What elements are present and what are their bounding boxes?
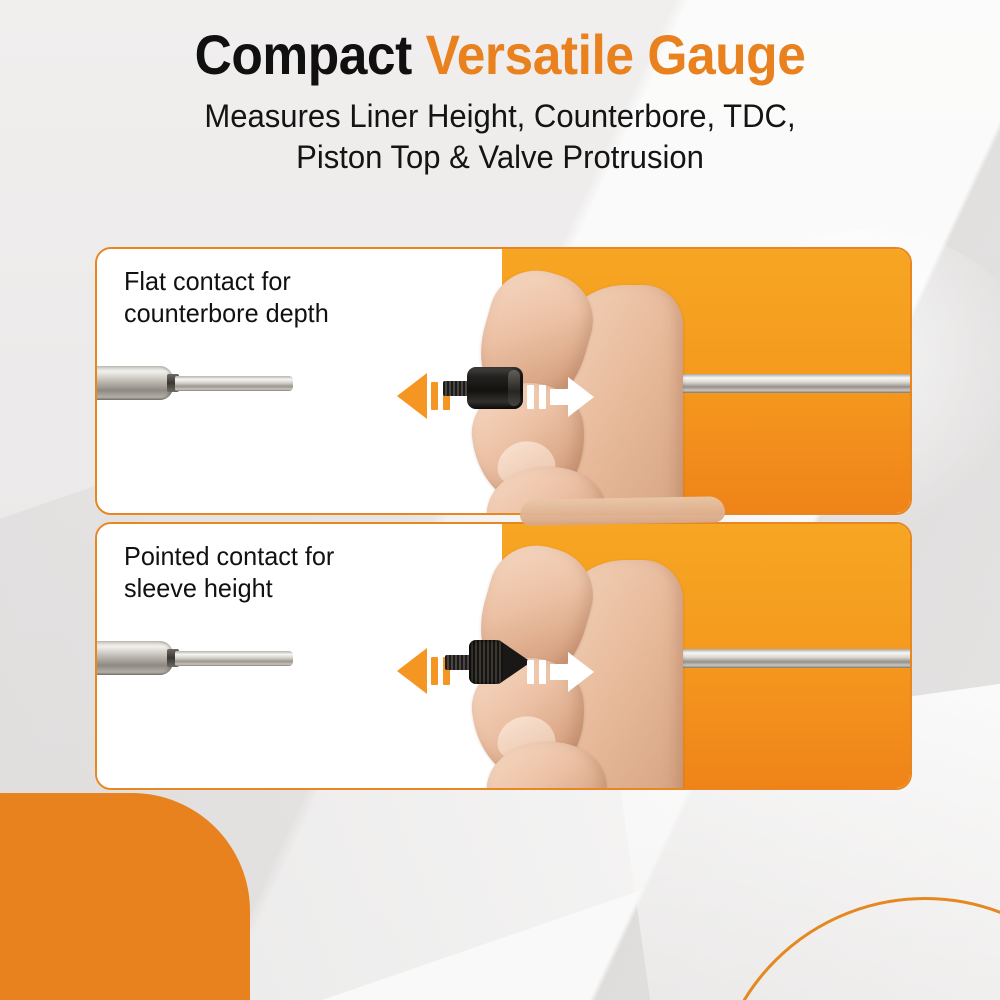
assembled-rod xyxy=(664,374,912,393)
page-subtitle: Measures Liner Height, Counterbore, TDC,… xyxy=(102,96,897,177)
page-title: Compact Versatile Gauge xyxy=(40,0,960,84)
header: Compact Versatile Gauge Measures Liner H… xyxy=(0,0,1000,177)
panel-label-line-1: Flat contact for xyxy=(124,266,454,298)
flat-knob xyxy=(467,367,523,409)
arrow-left-head xyxy=(397,648,427,694)
subtitle-line-1: Measures Liner Height, Counterbore, TDC, xyxy=(102,96,897,136)
arrow-right-head xyxy=(568,652,594,692)
panel-label-line-1: Pointed contact for xyxy=(124,541,454,573)
arrow-right-stem xyxy=(550,664,568,680)
arrow-left-icon xyxy=(397,373,450,419)
arrow-left-head xyxy=(397,373,427,419)
pointed-knob xyxy=(469,640,531,684)
panel-label-line-2: counterbore depth xyxy=(124,298,454,330)
title-black-part: Compact xyxy=(195,23,412,86)
subtitle-line-2: Piston Top & Valve Protrusion xyxy=(102,137,897,177)
orange-rounded-blob xyxy=(0,793,250,1000)
arrow-right-icon xyxy=(527,652,594,692)
tip-thread-stud xyxy=(443,381,469,396)
arrow-right-motion-bars xyxy=(527,385,546,409)
arrow-right-icon xyxy=(527,377,594,417)
gauge-body xyxy=(95,641,173,675)
gauge-shaft-left xyxy=(95,366,291,400)
gauge-rod xyxy=(175,651,293,666)
arrow-right-stem xyxy=(550,389,568,405)
tip-thread-stud xyxy=(445,655,471,670)
finger-overlapping-panels xyxy=(520,496,725,526)
gauge-shaft-left xyxy=(95,641,291,675)
gauge-rod xyxy=(175,376,293,391)
arrow-right-head xyxy=(568,377,594,417)
panel-pointed-contact: Pointed contact for sleeve height xyxy=(95,522,912,790)
panel-flat-contact: Flat contact for counterbore depth xyxy=(95,247,912,515)
arrow-right-motion-bars xyxy=(527,660,546,684)
title-orange-part: Versatile Gauge xyxy=(426,23,806,86)
panel-label-flat-contact: Flat contact for counterbore depth xyxy=(124,266,454,329)
gauge-body xyxy=(95,366,173,400)
arrow-left-icon xyxy=(397,648,450,694)
infographic-canvas: Compact Versatile Gauge Measures Liner H… xyxy=(0,0,1000,1000)
panel-label-pointed-contact: Pointed contact for sleeve height xyxy=(124,541,454,604)
panel-label-line-2: sleeve height xyxy=(124,573,454,605)
knurled-collar xyxy=(469,640,503,684)
assembled-rod xyxy=(678,649,912,668)
